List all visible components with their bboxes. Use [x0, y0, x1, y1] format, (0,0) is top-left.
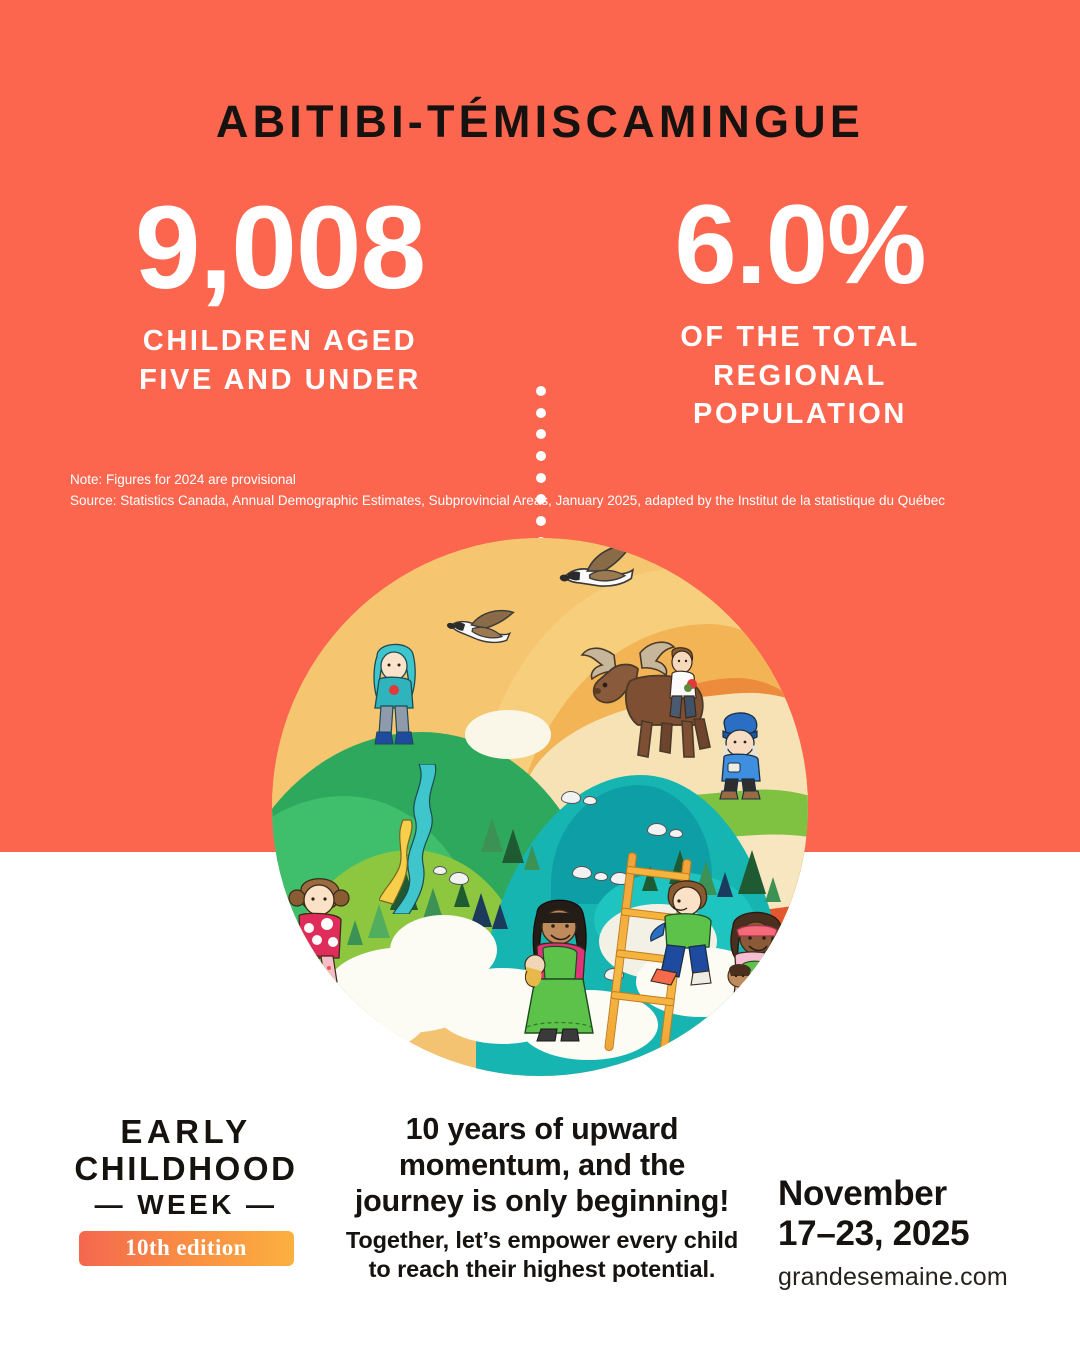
child-figure: [283, 872, 355, 1017]
edition-badge: 10th edition: [79, 1231, 294, 1266]
stats-row: 9,008 CHILDREN AGED FIVE AND UNDER 6.0% …: [0, 188, 1080, 458]
footer: EARLY CHILDHOOD — WEEK — 10th edition 10…: [0, 1090, 1080, 1350]
divider-dot: [536, 516, 546, 526]
brand-logo: EARLY CHILDHOOD — WEEK — 10th edition: [52, 1114, 320, 1266]
tree-icon: [765, 877, 781, 902]
illustration: [272, 538, 808, 1076]
stat-population-label-line3: POPULATION: [560, 395, 1040, 433]
source-note: Note: Figures for 2024 are provisional S…: [70, 470, 1030, 512]
goose-icon: [301, 553, 400, 623]
tree-icon: [524, 845, 540, 870]
divider-dot: [536, 429, 546, 439]
poster-root: ABITIBI-TÉMISCAMINGUE 9,008 CHILDREN AGE…: [0, 0, 1080, 1350]
rock-icon: [561, 791, 581, 804]
logo-line-early: EARLY: [52, 1114, 320, 1151]
scarf-shape: [379, 764, 459, 914]
tagline-sub: Together, let’s empower every child to r…: [336, 1226, 748, 1284]
event-date-line2: 17–23, 2025: [778, 1214, 1048, 1254]
stat-population-label: OF THE TOTAL REGIONAL POPULATION: [560, 318, 1040, 433]
divider-dot: [536, 451, 546, 461]
event-date: November 17–23, 2025: [778, 1174, 1048, 1254]
tree-icon: [502, 829, 524, 863]
rock-icon: [583, 796, 597, 805]
rock-icon: [594, 872, 608, 881]
stat-population-label-line1: OF THE TOTAL: [560, 318, 1040, 356]
rock-icon: [572, 866, 592, 879]
stat-population-label-line2: REGIONAL: [560, 357, 1040, 395]
tagline-main: 10 years of upward momentum, and the jou…: [336, 1112, 748, 1220]
tagline-main-line2: momentum, and the: [336, 1148, 748, 1184]
logo-line-week: — WEEK —: [52, 1188, 320, 1221]
cloud-shape: [465, 710, 551, 758]
divider-dot: [536, 386, 546, 396]
stat-children-count: 9,008 CHILDREN AGED FIVE AND UNDER: [40, 188, 520, 399]
illustration-circle: [272, 538, 808, 1076]
child-figure: [363, 640, 425, 757]
stat-children-number: 9,008: [40, 188, 520, 308]
stat-children-label: CHILDREN AGED FIVE AND UNDER: [40, 322, 520, 399]
goose-icon: [554, 540, 654, 607]
tree-icon: [738, 850, 766, 894]
stat-children-label-line1: CHILDREN AGED: [40, 322, 520, 360]
tagline-main-line1: 10 years of upward: [336, 1112, 748, 1148]
tagline-sub-line1: Together, let’s empower every child: [336, 1226, 748, 1255]
tagline: 10 years of upward momentum, and the jou…: [336, 1112, 748, 1284]
ladder-rung: [610, 991, 674, 1007]
child-figure: [717, 904, 795, 1049]
source-source-line: Source: Statistics Canada, Annual Demogr…: [70, 491, 1030, 512]
tagline-sub-line2: to reach their highest potential.: [336, 1255, 748, 1284]
child-figure: [712, 705, 770, 806]
event-date-block: November 17–23, 2025 grandesemaine.com: [778, 1174, 1048, 1292]
tagline-main-line3: journey is only beginning!: [336, 1184, 748, 1220]
stat-children-label-line2: FIVE AND UNDER: [40, 361, 520, 399]
rock-icon: [647, 823, 667, 836]
child-figure: [647, 877, 725, 992]
stat-population-number: 6.0%: [560, 188, 1040, 302]
event-date-line1: November: [778, 1174, 1048, 1214]
rock-icon: [669, 829, 683, 838]
page-title: ABITIBI-TÉMISCAMINGUE: [0, 96, 1080, 148]
child-figure: [513, 893, 605, 1048]
tree-icon: [492, 904, 508, 929]
source-note-line: Note: Figures for 2024 are provisional: [70, 470, 1030, 491]
stat-population-share: 6.0% OF THE TOTAL REGIONAL POPULATION: [560, 188, 1040, 433]
divider-dot: [536, 408, 546, 418]
child-figure: [658, 646, 710, 727]
logo-line-childhood: CHILDHOOD: [52, 1151, 320, 1188]
website-link[interactable]: grandesemaine.com: [778, 1263, 1048, 1292]
tree-icon: [481, 818, 503, 852]
